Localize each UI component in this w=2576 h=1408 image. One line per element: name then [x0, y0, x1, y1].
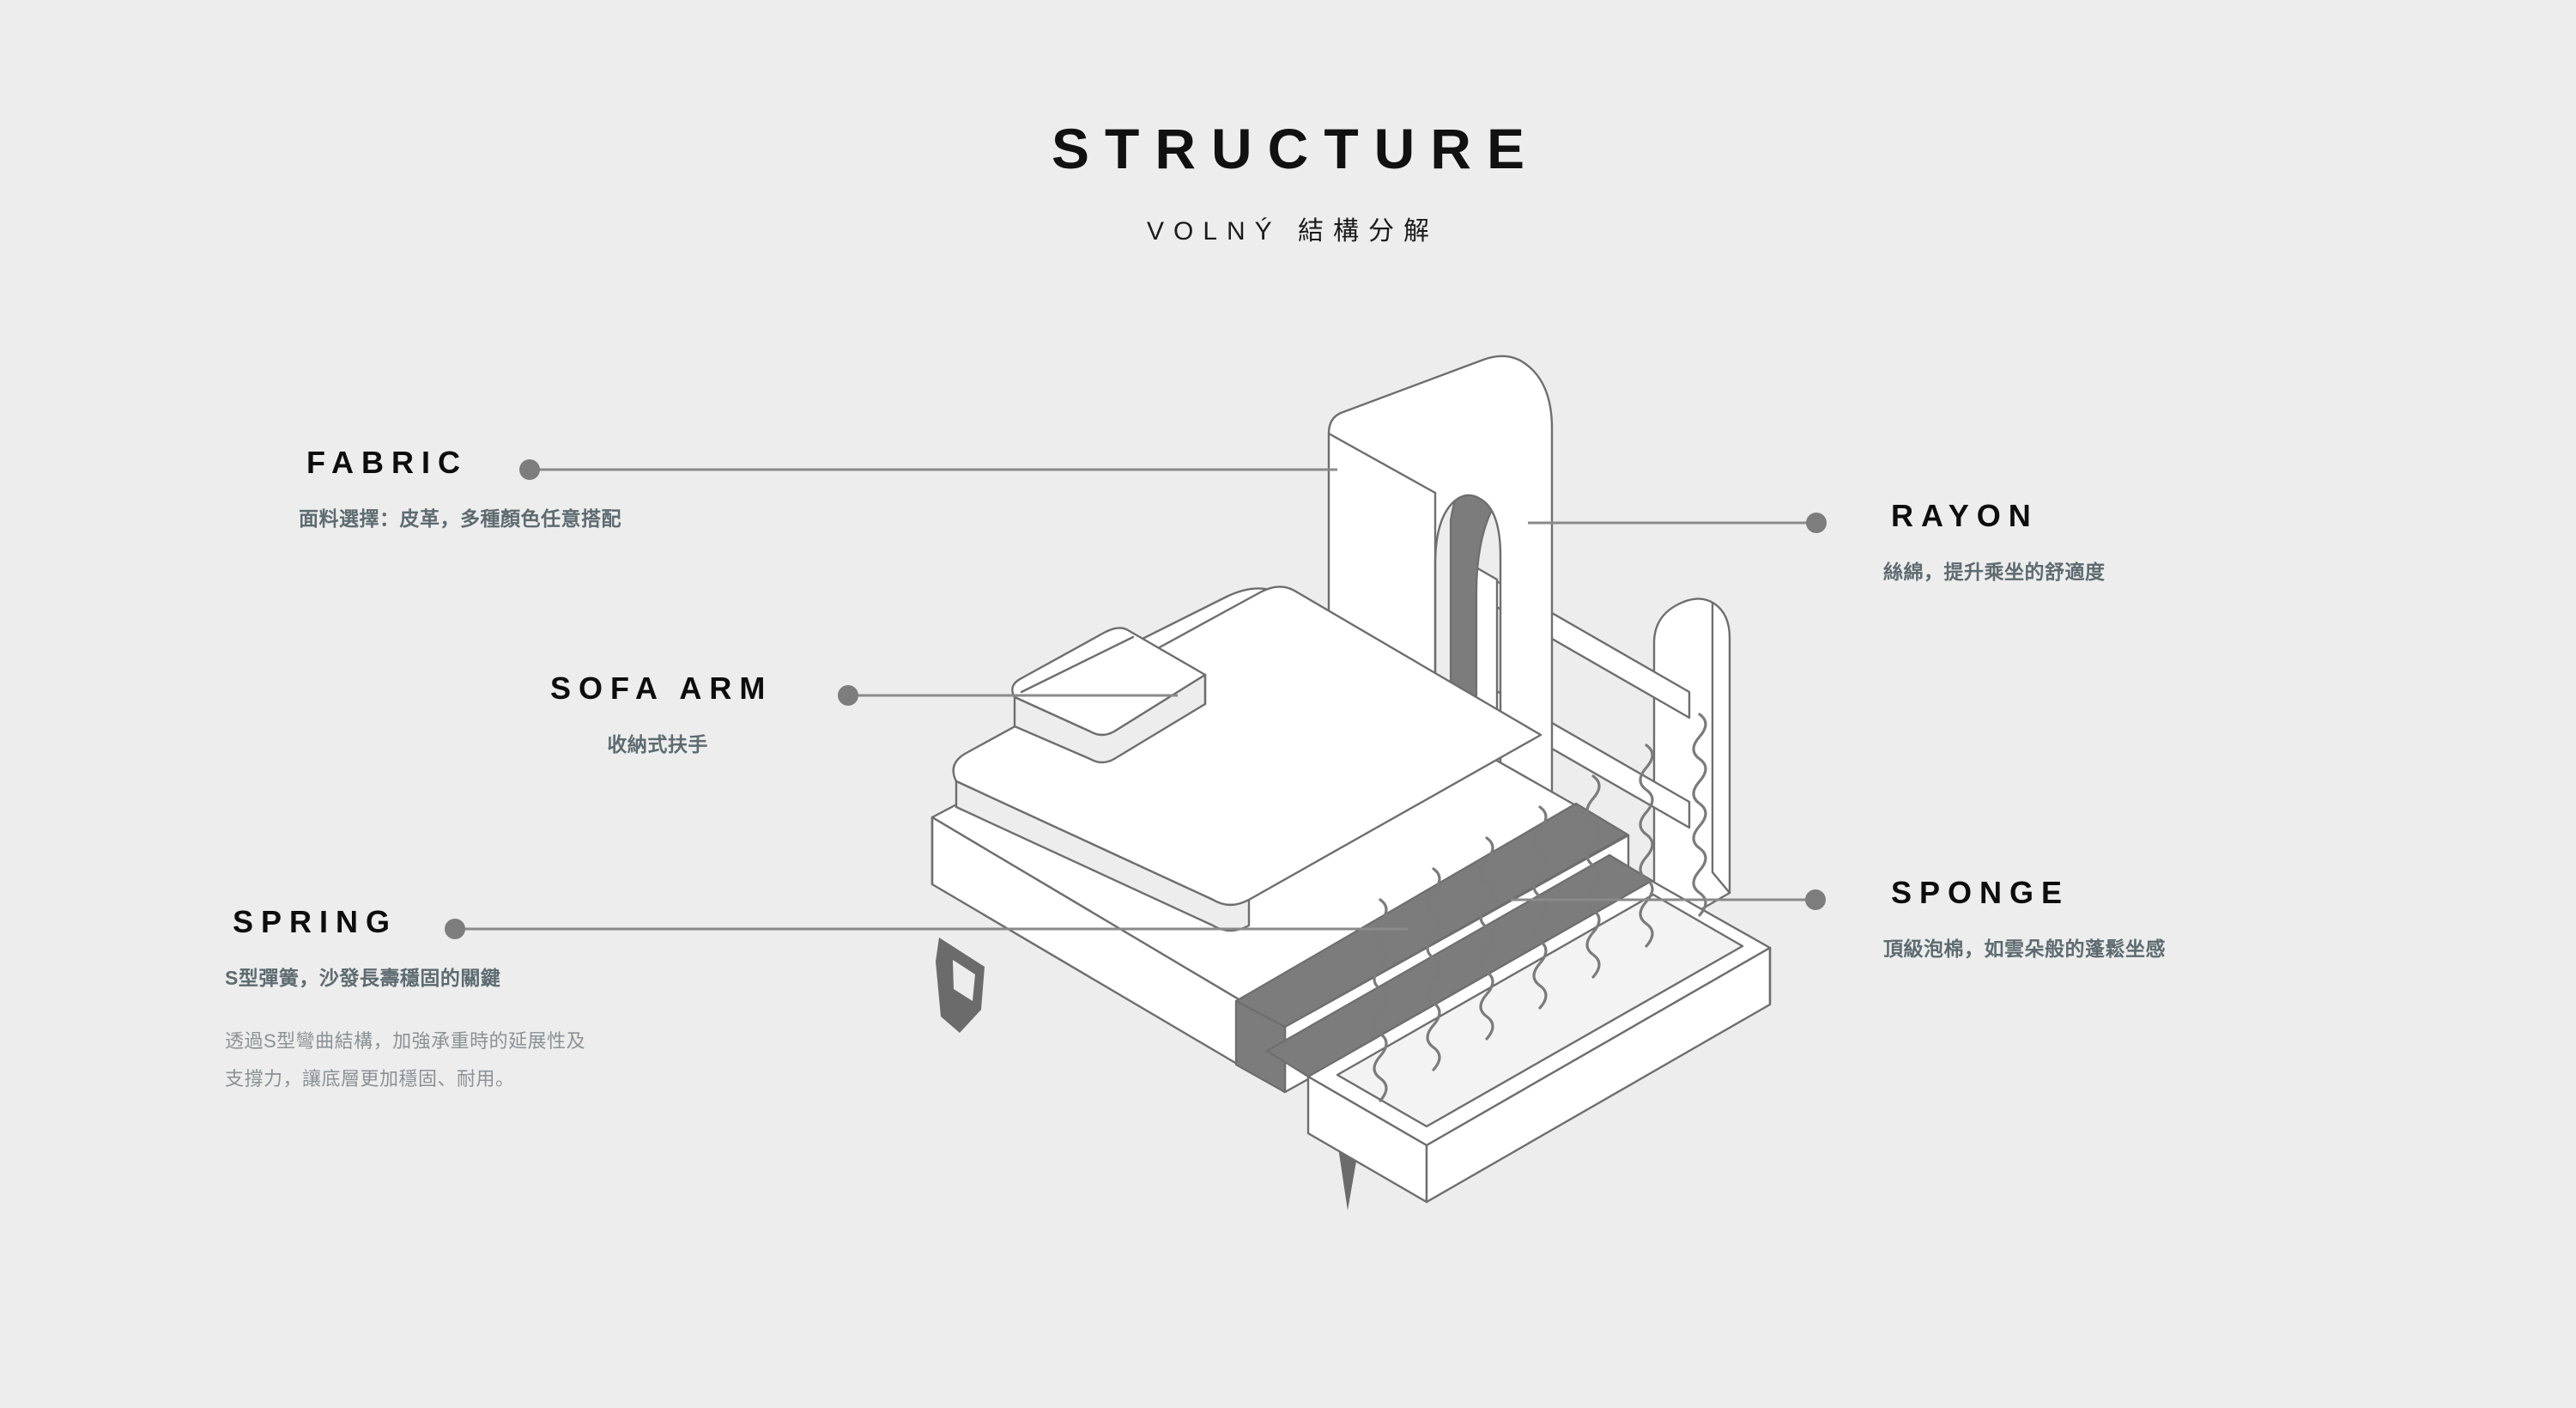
- callout-sponge-subtitle: 頂級泡棉，如雲朵般的蓬鬆坐感: [1883, 934, 2166, 964]
- callout-spring-subtitle: S型彈簧，沙發長壽穩固的關鍵: [225, 963, 585, 993]
- callout-sofa-arm-subtitle: 收納式扶手: [542, 730, 773, 760]
- callout-spring-title: SPRING: [225, 907, 585, 938]
- structure-infographic-page: STRUCTURE VOLNÝ 結構分解 .ln { fill:none; st…: [0, 0, 2576, 1408]
- callout-sofa-arm: SOFA ARM 收納式扶手: [542, 673, 773, 760]
- callout-sponge-title: SPONGE: [1883, 877, 2166, 908]
- callout-fabric: FABRIC 面料選擇：皮革，多種顏色任意搭配: [299, 447, 621, 534]
- sofa-cutaway-illustration: .ln { fill:none; stroke:#6e6e6e; stroke-…: [0, 0, 2576, 1408]
- callout-rayon: RAYON 絲綿，提升乘坐的舒適度: [1883, 501, 2106, 587]
- callout-sofa-arm-title: SOFA ARM: [542, 673, 773, 704]
- leg-left: [936, 938, 985, 1033]
- callout-fabric-title: FABRIC: [299, 447, 621, 478]
- callout-spring-body: 透過S型彎曲結構，加強承重時的延展性及 支撐力，讓底層更加穩固、耐用。: [225, 1023, 585, 1098]
- callout-rayon-subtitle: 絲綿，提升乘坐的舒適度: [1883, 557, 2106, 587]
- callout-sponge: SPONGE 頂級泡棉，如雲朵般的蓬鬆坐感: [1883, 877, 2166, 964]
- callout-fabric-subtitle: 面料選擇：皮革，多種顏色任意搭配: [299, 504, 621, 534]
- callout-rayon-title: RAYON: [1883, 501, 2106, 531]
- back-frame-right-post: [1654, 598, 1730, 915]
- callout-spring: SPRING S型彈簧，沙發長壽穩固的關鍵 透過S型彎曲結構，加強承重時的延展性…: [225, 907, 585, 1098]
